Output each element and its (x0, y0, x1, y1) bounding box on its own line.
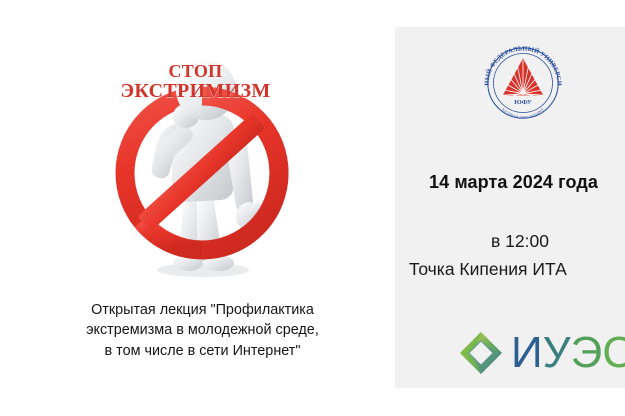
event-time: в 12:00 (405, 231, 625, 252)
left-panel: СТОП ЭКСТРИМИЗМ Открытая лекция "Профила… (0, 0, 395, 416)
iues-wordmark: ИУЭС (511, 331, 625, 375)
iues-diamond-icon (457, 329, 505, 377)
poster-root: СТОП ЭКСТРИМИЗМ Открытая лекция "Профила… (0, 0, 625, 416)
iues-letter-4: С (602, 331, 625, 375)
svg-text:ЮФУ: ЮФУ (514, 99, 532, 106)
right-panel: ЮЖНЫЙ ФЕДЕРАЛЬНЫЙ УНИВЕРСИТЕТ (395, 0, 625, 416)
event-date: 14 марта 2024 года (429, 172, 625, 193)
sfedu-seal-icon: ЮЖНЫЙ ФЕДЕРАЛЬНЫЙ УНИВЕРСИТЕТ (479, 39, 567, 127)
svg-text:РОСТОВ-НА-ДОНУ-ТАГАНРОГ: РОСТОВ-НА-ДОНУ-ТАГАНРОГ (501, 107, 545, 119)
iues-letter-2: У (543, 331, 571, 375)
event-place: Точка Кипения ИТА (409, 259, 625, 280)
iues-letter-1: И (511, 331, 543, 375)
prohibition-sign-with-figure-icon (95, 38, 310, 283)
lecture-caption-line-1: Открытая лекция "Профилактика (60, 300, 345, 320)
event-info-card: ЮЖНЫЙ ФЕДЕРАЛЬНЫЙ УНИВЕРСИТЕТ (395, 27, 625, 388)
lecture-caption-line-2: экстремизма в молодежной среде, (60, 320, 345, 340)
lecture-caption: Открытая лекция "Профилактика экстремизм… (60, 300, 345, 361)
iues-letter-3: Э (571, 331, 603, 375)
lecture-caption-line-3: в том числе в сети Интернет" (60, 341, 345, 361)
iues-logo: ИУЭС (457, 327, 625, 379)
